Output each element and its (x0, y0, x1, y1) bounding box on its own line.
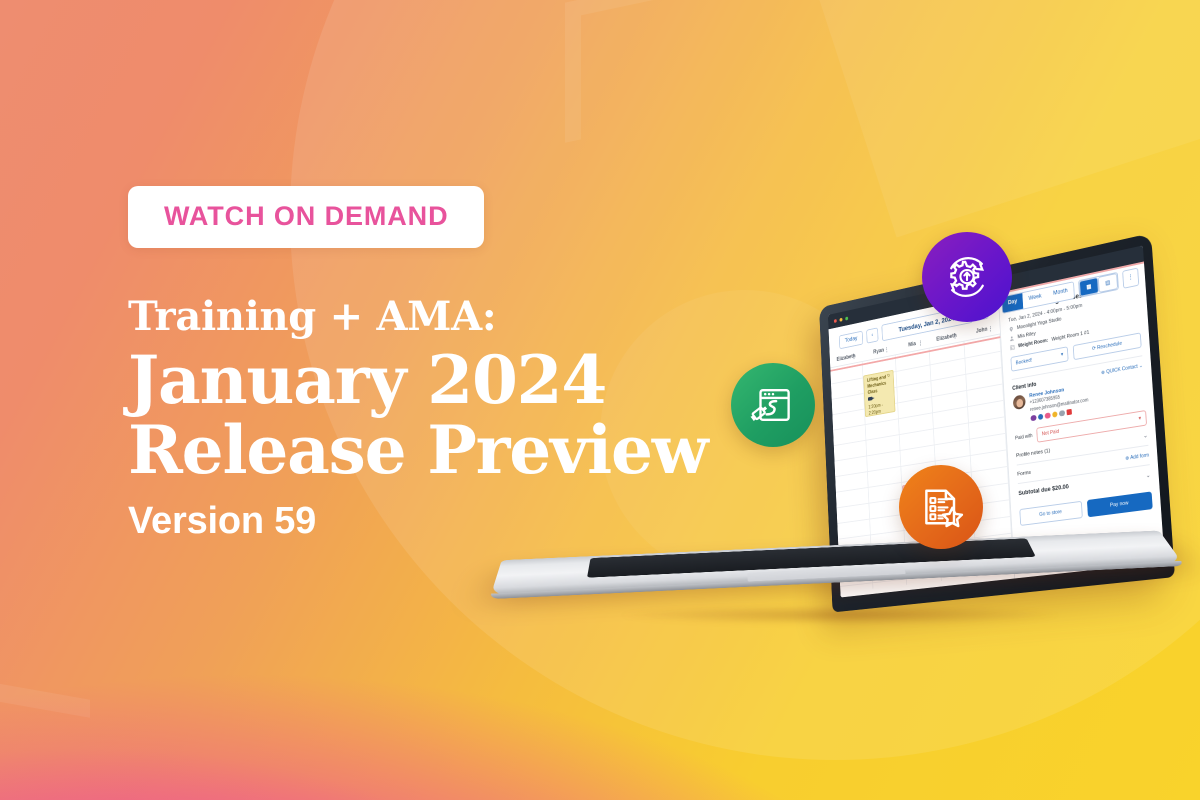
client-chip-3[interactable] (1045, 412, 1051, 419)
window-minimize-dot[interactable] (839, 317, 842, 321)
subtotal-label: Subtotal due $20.00 (1018, 483, 1069, 497)
chevron-down-icon[interactable]: ⌄ (1143, 432, 1148, 439)
go-to-store-button[interactable]: Go to store (1019, 501, 1082, 526)
avatar (1013, 394, 1026, 410)
calendar-event-lifting-class[interactable]: ↻ Lifting and Mechanics Class 1:20pm - 2… (863, 370, 895, 417)
chevron-down-icon: ▾ (1061, 351, 1064, 357)
client-info-label: Client info (1012, 382, 1036, 392)
branding-paintbrush-icon (731, 363, 815, 447)
forms-star-icon (899, 465, 983, 549)
resource-grid-icon (1010, 344, 1015, 350)
headline-line-1: January 2024 (128, 346, 768, 416)
resource-label: Weight Room: (1018, 337, 1048, 348)
paid-with-value: Not Paid (1042, 429, 1060, 437)
list-view-icon[interactable]: ▤ (1098, 273, 1118, 293)
more-menu-icon[interactable]: ⋮ (1122, 268, 1139, 289)
watch-on-demand-badge[interactable]: WATCH ON DEMAND (128, 186, 484, 248)
client-chip-2[interactable] (1037, 413, 1043, 420)
client-chip-1[interactable] (1030, 414, 1036, 421)
add-form-link[interactable]: ⊕ Add form (1125, 453, 1149, 462)
forms-label: Forms (1017, 470, 1031, 478)
today-button[interactable]: Today (839, 330, 864, 349)
grid-view-icon[interactable]: ▦ (1079, 277, 1099, 297)
staff-value: Mia Riley (1017, 331, 1036, 340)
person-icon (1009, 335, 1014, 341)
video-camera-icon (868, 397, 873, 401)
window-maximize-dot[interactable] (845, 316, 848, 320)
reschedule-label: Reschedule (1097, 340, 1122, 350)
eyebrow-text: Training + AMA: (128, 296, 768, 338)
client-chip-4[interactable] (1052, 411, 1058, 418)
version-label: Version 59 (128, 500, 768, 543)
recurring-icon: ↻ (887, 373, 890, 379)
window-close-dot[interactable] (834, 319, 837, 323)
paid-with-label: Paid with (1015, 433, 1033, 441)
watch-on-demand-label: WATCH ON DEMAND (164, 203, 448, 230)
profile-notes-label: Profile notes (1) (1016, 448, 1050, 459)
pay-now-button[interactable]: Pay now (1086, 491, 1152, 517)
promo-copy-block: WATCH ON DEMAND Training + AMA: January … (128, 186, 768, 543)
page-title: January 2024 Release Preview (128, 346, 768, 486)
headline-line-2: Release Preview (128, 416, 768, 486)
chevron-down-icon: ▾ (1138, 416, 1141, 422)
prev-day-button[interactable]: ‹ (866, 327, 878, 343)
location-pin-icon (1009, 326, 1014, 332)
status-select[interactable]: Booked! ▾ (1010, 346, 1068, 372)
client-chip-5[interactable] (1059, 410, 1065, 417)
automation-gear-icon (922, 232, 1012, 322)
status-select-value: Booked! (1016, 357, 1033, 366)
chevron-down-icon[interactable]: ⌄ (1146, 472, 1151, 479)
client-chip-6[interactable] (1066, 408, 1072, 415)
